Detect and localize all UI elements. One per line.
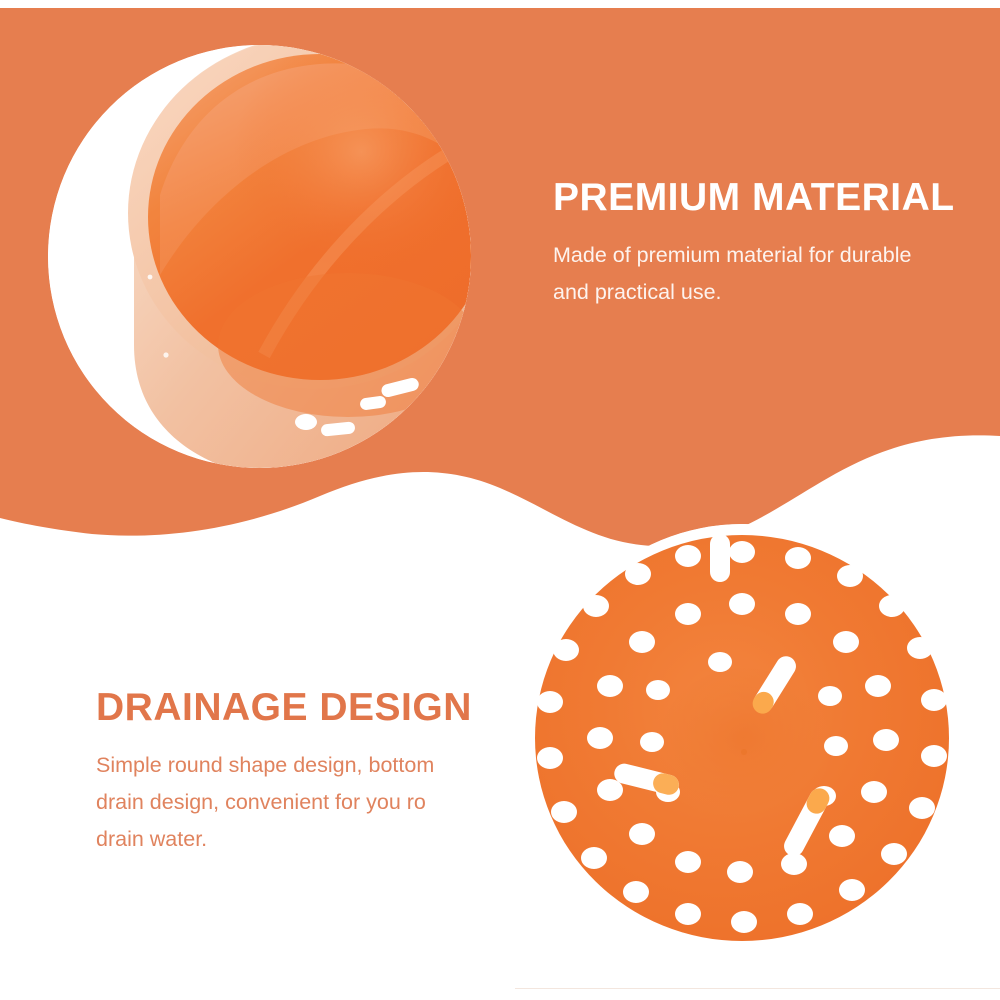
drainage-design-body: Simple round shape design, bottom drain …: [96, 747, 526, 858]
body-line: drain design, convenient for you ro: [96, 784, 526, 821]
premium-material-body: Made of premium material for durable and…: [553, 237, 983, 311]
premium-material-heading: PREMIUM MATERIAL: [553, 178, 983, 219]
drainage-design-text-block: DRAINAGE DESIGN Simple round shape desig…: [96, 688, 526, 858]
body-line: Made of premium material for durable: [553, 237, 983, 274]
body-line: drain water.: [96, 821, 526, 858]
drain-slot-top: [710, 534, 730, 582]
body-line: Simple round shape design, bottom: [96, 747, 526, 784]
drainage-design-photo: [530, 524, 955, 949]
premium-material-text-block: PREMIUM MATERIAL Made of premium materia…: [553, 178, 983, 311]
premium-material-photo: [48, 45, 471, 468]
bottom-edge-artifact: [515, 988, 1000, 989]
infographic-page: PREMIUM MATERIAL Made of premium materia…: [0, 0, 1000, 1000]
drainage-design-heading: DRAINAGE DESIGN: [96, 688, 526, 729]
body-line: and practical use.: [553, 274, 983, 311]
